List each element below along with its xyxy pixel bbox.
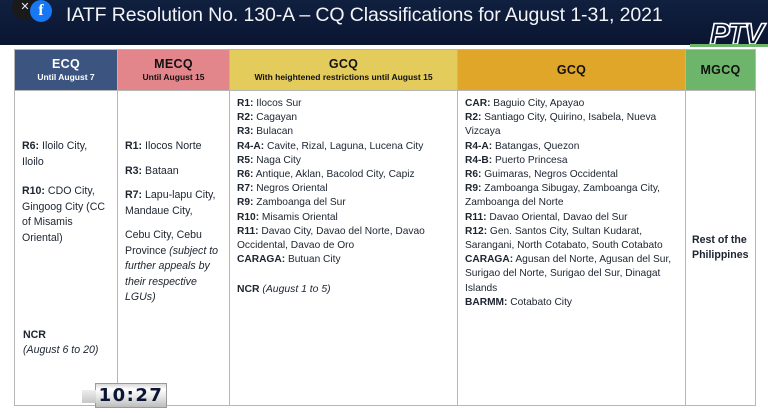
region-code: R6: [237, 169, 253, 180]
region-code: R10: [237, 212, 259, 223]
column-body-mgcq: Rest of the Philippines [686, 91, 755, 405]
column-gcq: GCQ CAR: Baguio City, Apayao R2: Santiag… [458, 50, 686, 405]
column-header-gcq-heightened: GCQ With heightened restrictions until A… [230, 50, 457, 91]
column-header-gcq: GCQ [458, 50, 685, 91]
list-item: R4-A: Cavite, Rizal, Laguna, Lucena City [237, 140, 450, 154]
list-item: R4-A: Batangas, Quezon [465, 140, 678, 154]
screen: ✕ f IATF Resolution No. 130-A – CQ Class… [0, 0, 768, 413]
list-item: R2: Santiago City, Quirino, Isabela, Nue… [465, 111, 678, 139]
region-areas: Misamis Oriental [259, 212, 338, 223]
list-item: R6: Antique, Aklan, Bacolod City, Capiz [237, 168, 450, 182]
region-areas: Ilocos Sur [253, 98, 301, 109]
column-header-mgcq: MGCQ [686, 50, 755, 91]
column-body-mecq: R1: Ilocos Norte R3: Bataan R7: Lapu-lap… [118, 91, 229, 405]
region-code: R3: [125, 165, 142, 177]
list-item: R11: Davao City, Davao del Norte, Davao … [237, 225, 450, 253]
ncr-note: (August 1 to 5) [262, 284, 330, 295]
list-item: R10: CDO City, Gingoog City (CC of Misam… [22, 184, 110, 246]
column-body-gcq-heightened: R1: Ilocos Sur R2: Cagayan R3: Bulacan R… [230, 91, 457, 405]
list-item: R12: Gen. Santos City, Sultan Kudarat, S… [465, 225, 678, 253]
region-areas: Baguio City, Apayao [490, 98, 584, 109]
list-item: R4-B: Puerto Princesa [465, 154, 678, 168]
ncr-note: (August 6 to 20) [23, 344, 98, 356]
region-areas: Negros Oriental [253, 183, 327, 194]
region-code: R1: [125, 140, 142, 152]
ncr-label: NCR [237, 284, 260, 295]
column-subtitle: Until August 15 [142, 72, 204, 83]
facebook-icon[interactable]: f [30, 0, 52, 22]
region-code: CARAGA: [237, 254, 285, 265]
region-areas: Cotabato City [507, 297, 572, 308]
column-mecq: MECQ Until August 15 R1: Ilocos Norte R3… [118, 50, 230, 405]
column-body-gcq: CAR: Baguio City, Apayao R2: Santiago Ci… [458, 91, 685, 405]
region-code: R6: [22, 140, 39, 152]
region-code: BARMM: [465, 297, 507, 308]
region-code: CAR: [465, 98, 490, 109]
column-header-ecq: ECQ Until August 7 [15, 50, 117, 91]
region-areas: Bataan [142, 165, 179, 177]
header-accent-strip [690, 44, 768, 47]
classification-table: ECQ Until August 7 R6: Iloilo City, Iloi… [14, 49, 756, 406]
list-item: R1: Ilocos Sur [237, 97, 450, 111]
column-title: MGCQ [700, 63, 740, 77]
region-areas: Butuan City [285, 254, 341, 265]
column-title: MECQ [154, 57, 193, 71]
region-code: R5: [237, 155, 253, 166]
list-item: R3: Bataan [125, 164, 222, 180]
region-areas: Ilocos Norte [142, 140, 201, 152]
region-code: R2: [237, 112, 253, 123]
column-body-ecq: R6: Iloilo City, Iloilo R10: CDO City, G… [15, 91, 117, 405]
region-areas: Guimaras, Negros Occidental [481, 169, 617, 180]
column-subtitle: Until August 7 [37, 72, 94, 83]
ecq-footer-ncr: NCR (August 6 to 20) [23, 328, 98, 358]
region-areas: Gen. Santos City, Sultan Kudarat, Sarang… [465, 226, 663, 251]
list-item: R1: Ilocos Norte [125, 139, 222, 155]
list-item: R7: Negros Oriental [237, 182, 450, 196]
region-code: R1: [237, 98, 253, 109]
column-ecq: ECQ Until August 7 R6: Iloilo City, Iloi… [15, 50, 118, 405]
list-item: Cebu City, Cebu Province (subject to fur… [125, 228, 222, 306]
region-areas: Zamboanga del Sur [253, 197, 345, 208]
clock-overlay: 10:27 [95, 383, 167, 408]
list-item: R6: Guimaras, Negros Occidental [465, 168, 678, 182]
region-areas: Puerto Princesa [492, 155, 567, 166]
list-item: CAR: Baguio City, Apayao [465, 97, 678, 111]
list-item: R6: Iloilo City, Iloilo [22, 139, 110, 170]
list-item: CARAGA: Butuan City [237, 253, 450, 267]
list-item: R11: Davao Oriental, Davao del Sur [465, 211, 678, 225]
mgcq-coverage-text: Rest of the Philippines [692, 233, 749, 263]
region-code: R11: [465, 212, 487, 223]
clock-time: 10:27 [99, 385, 164, 406]
region-areas: Davao City, Davao del Norte, Davao Occid… [237, 226, 425, 251]
region-areas: Bulacan [253, 126, 293, 137]
list-item: R3: Bulacan [237, 125, 450, 139]
region-areas: Santiago City, Quirino, Isabela, Nueva V… [465, 112, 656, 137]
region-areas: Antique, Aklan, Bacolod City, Capiz [253, 169, 414, 180]
region-code: R6: [465, 169, 481, 180]
gcq-heightened-footer-ncr: NCR (August 1 to 5) [237, 283, 450, 297]
column-title: GCQ [557, 63, 586, 77]
region-code: R4-A: [465, 141, 492, 152]
region-code: R2: [465, 112, 481, 123]
ncr-label: NCR [23, 329, 46, 341]
region-code: R3: [237, 126, 253, 137]
page-title: IATF Resolution No. 130-A – CQ Classific… [66, 4, 663, 27]
region-areas: Zamboanga Sibugay, Zamboanga City, Zambo… [465, 183, 660, 208]
column-mgcq: MGCQ Rest of the Philippines [686, 50, 755, 405]
column-subtitle: With heightened restrictions until Augus… [254, 72, 432, 83]
column-header-mecq: MECQ Until August 15 [118, 50, 229, 91]
list-item: R9: Zamboanga del Sur [237, 196, 450, 210]
region-code: R10: [22, 185, 45, 197]
list-item: CARAGA: Agusan del Norte, Agusan del Sur… [465, 253, 678, 296]
list-item: R10: Misamis Oriental [237, 211, 450, 225]
list-item: R2: Cagayan [237, 111, 450, 125]
region-code: R4-A: [237, 141, 264, 152]
region-code: R11: [237, 226, 259, 237]
region-areas: Batangas, Quezon [492, 141, 579, 152]
region-areas: Cagayan [253, 112, 297, 123]
list-item: BARMM: Cotabato City [465, 296, 678, 310]
column-title: ECQ [52, 57, 80, 71]
list-item: R9: Zamboanga Sibugay, Zamboanga City, Z… [465, 182, 678, 210]
list-item: R7: Lapu-lapu City, Mandaue City, [125, 188, 222, 219]
region-code: CARAGA: [465, 254, 513, 265]
region-code: R9: [237, 197, 253, 208]
list-item: R5: Naga City [237, 154, 450, 168]
ptv-logo: PTV [710, 20, 762, 45]
region-code: R7: [237, 183, 253, 194]
column-gcq-heightened: GCQ With heightened restrictions until A… [230, 50, 458, 405]
region-code: R7: [125, 189, 142, 201]
region-code: R12: [465, 226, 487, 237]
region-areas: Naga City [253, 155, 301, 166]
column-title: GCQ [329, 57, 358, 71]
title-bar: ✕ f IATF Resolution No. 130-A – CQ Class… [0, 0, 768, 45]
region-code: R9: [465, 183, 481, 194]
region-areas: Davao Oriental, Davao del Sur [487, 212, 628, 223]
region-areas: Cavite, Rizal, Laguna, Lucena City [264, 141, 423, 152]
region-code: R4-B: [465, 155, 492, 166]
